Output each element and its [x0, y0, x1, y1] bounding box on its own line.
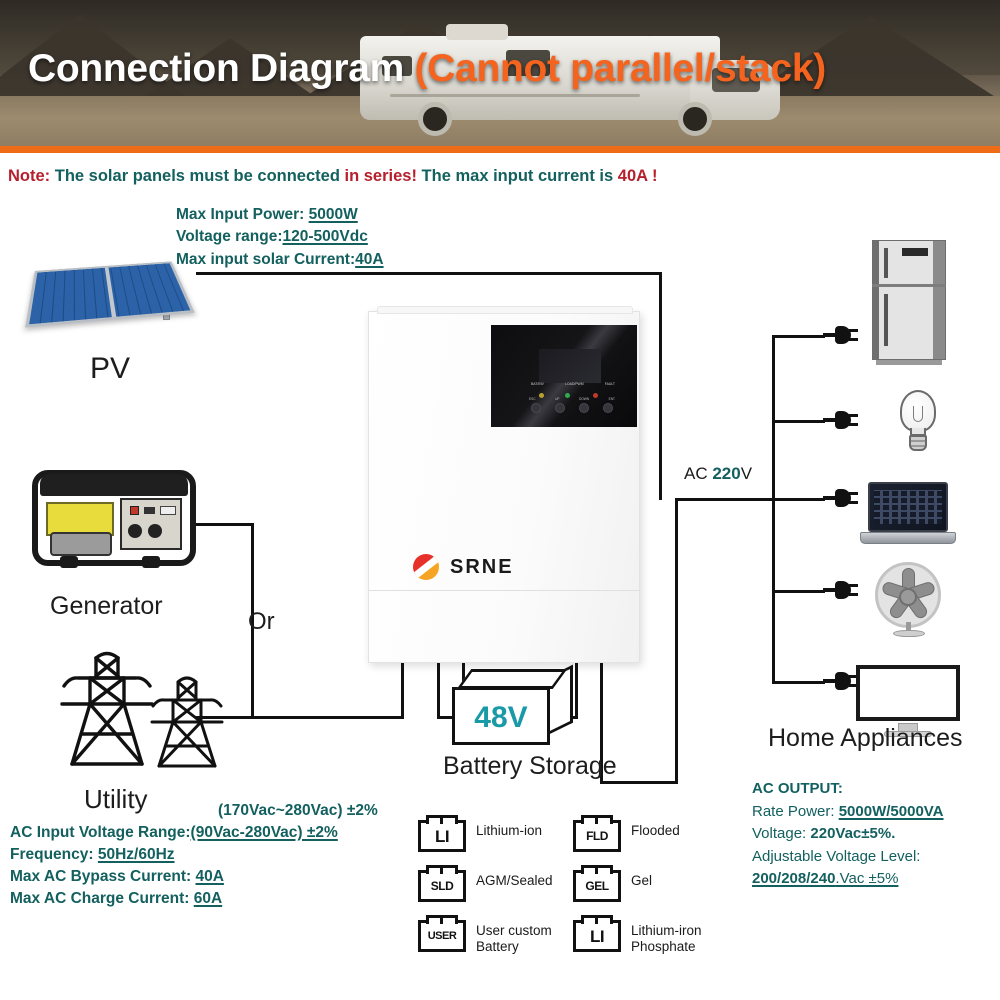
plug-icon-fridge: [823, 325, 857, 345]
note-emphasis-current: 40A: [618, 167, 648, 185]
battery-icon-lifepo4: LI: [573, 920, 621, 952]
srne-logo-text: SRNE: [450, 556, 514, 579]
wire-to-bulb: [772, 420, 825, 423]
note-part2: The max input current is: [417, 167, 618, 185]
orange-divider: [0, 146, 1000, 153]
srne-logo: SRNE: [413, 554, 514, 580]
plug-icon-bulb: [823, 410, 857, 430]
legend-item-lithium-ion: LI Lithium-ion: [418, 820, 573, 852]
legend-row: SLD AGM/Sealed GEL Gel: [418, 870, 728, 906]
battery-illustration: 48V: [452, 665, 574, 751]
ac-220v-label: AC 220V: [684, 464, 752, 484]
ac-input-voltage-range-row: AC Input Voltage Range:(90Vac-280Vac) ±2…: [10, 822, 420, 844]
ac-output-heading: AC OUTPUT:: [752, 778, 1000, 801]
wire-to-laptop: [772, 498, 825, 501]
pv-label: PV: [90, 352, 130, 386]
wire-ac-in-riser: [401, 660, 404, 719]
ac-output-voltage-row: Voltage: 220Vac±5%.: [752, 823, 1000, 846]
ac-input-frequency-row: Frequency: 50Hz/60Hz: [10, 844, 420, 866]
note-line: Note: The solar panels must be connected…: [8, 167, 992, 186]
inverter-unit: BAT/INV LOAD/PWM FAULT ESC UP DOWN ENT: [368, 311, 640, 663]
ac-output-specs: AC OUTPUT: Rate Power: 5000W/5000VA Volt…: [752, 778, 1000, 891]
ac-output-rate-power-value: 5000W/5000VA: [839, 803, 944, 820]
ac-output-adjustable-value: 200/208/240: [752, 870, 835, 887]
connection-diagram-page: Connection Diagram (Cannot parallel/stac…: [0, 0, 1000, 1000]
battery-voltage-label: 48V: [452, 701, 550, 735]
battery-icon-gel: GEL: [573, 870, 621, 902]
wire-to-fridge: [772, 335, 825, 338]
ac-input-voltage-range-top-row: (170Vac~280Vac) ±2%: [10, 800, 420, 822]
inverter-esc-button[interactable]: [531, 403, 541, 413]
legend-label-user-custom: User custom Battery: [476, 920, 573, 954]
wire-ac-in-to-inverter: [251, 716, 404, 719]
battery-type-legend: LI Lithium-ion FLD Flooded SLD AGM/Seale…: [418, 820, 728, 970]
ac-input-charge-row: Max AC Charge Current: 60A: [10, 888, 420, 910]
legend-label-agm-sealed: AGM/Sealed: [476, 870, 553, 889]
pv-spec-max-power: Max Input Power: 5000W: [176, 206, 358, 224]
page-title: Connection Diagram (Cannot parallel/stac…: [28, 47, 826, 91]
ac-input-frequency-value: 50Hz/60Hz: [98, 846, 175, 863]
home-appliances-label: Home Appliances: [768, 724, 963, 753]
button-label-up: UP: [555, 397, 559, 401]
note-part1: The solar panels must be connected: [50, 167, 344, 185]
wire-battery-left: [437, 660, 440, 718]
ac-output-voltage-label: Voltage:: [752, 825, 810, 842]
inverter-up-button[interactable]: [555, 403, 565, 413]
wire-to-monitor: [772, 681, 825, 684]
ac-input-voltage-main: (90Vac-280Vac) ±2%: [191, 824, 338, 841]
battery-icon-sld: SLD: [418, 870, 466, 902]
ac-input-bypass-row: Max AC Bypass Current: 40A: [10, 866, 420, 888]
plug-icon-fan: [823, 580, 857, 600]
wire-battery-right: [575, 660, 578, 718]
light-bulb-icon: [895, 390, 941, 452]
ac-input-charge-value: 60A: [194, 890, 222, 907]
wire-ac-out-right: [600, 781, 678, 784]
legend-item-flooded: FLD Flooded: [573, 820, 728, 852]
legend-item-agm-sealed: SLD AGM/Sealed: [418, 870, 573, 902]
note-emphasis-series: in series!: [345, 167, 417, 185]
ac-input-voltage-top: (170Vac~280Vac) ±2%: [218, 800, 378, 822]
inverter-button-labels: ESC UP DOWN ENT: [529, 397, 615, 401]
wire-pv-top: [196, 272, 662, 275]
inverter-buttons: [531, 403, 613, 413]
ac-input-bypass-label: Max AC Bypass Current:: [10, 868, 195, 885]
inverter-lcd-screen: [539, 349, 601, 383]
ac-output-rate-power-label: Rate Power:: [752, 803, 839, 820]
led-label-load: LOAD/PWM: [565, 382, 583, 386]
button-label-ent: ENT: [609, 397, 615, 401]
plug-icon-monitor: [823, 671, 857, 691]
ac-output-voltage-value: 220Vac±5%.: [810, 825, 895, 842]
wire-pv-down: [659, 272, 662, 500]
legend-label-gel: Gel: [631, 870, 652, 889]
wire-to-fan: [772, 590, 825, 593]
wire-generator: [196, 523, 254, 526]
laptop-icon: [860, 482, 956, 548]
generator-label: Generator: [50, 592, 163, 621]
generator-illustration: [32, 470, 196, 566]
wire-ac-bus-h: [675, 498, 785, 501]
srne-logo-mark-icon: [413, 554, 439, 580]
ac-input-specs: (170Vac~280Vac) ±2% AC Input Voltage Ran…: [10, 800, 420, 910]
ac-input-voltage-label: AC Input Voltage Range:: [10, 824, 191, 841]
pv-spec-voltage-range: Voltage range:120-500Vdc: [176, 228, 368, 246]
inverter-led-labels: BAT/INV LOAD/PWM FAULT: [531, 382, 615, 386]
inverter-down-button[interactable]: [579, 403, 589, 413]
battery-icon-user: USER: [418, 920, 466, 952]
note-prefix: Note:: [8, 167, 50, 185]
electric-fan-icon: [873, 562, 945, 636]
legend-row: USER User custom Battery LI Lithium-iron…: [418, 920, 728, 956]
legend-item-lifepo4: LI Lithium-iron Phosphate: [573, 920, 728, 954]
led-label-bat: BAT/INV: [531, 382, 544, 386]
inverter-ent-button[interactable]: [603, 403, 613, 413]
legend-label-flooded: Flooded: [631, 820, 680, 839]
note-suffix: !: [647, 167, 657, 185]
inverter-seam: [369, 590, 641, 591]
or-label: Or: [248, 608, 275, 636]
ac-input-frequency-label: Frequency:: [10, 846, 98, 863]
page-title-note: (Cannot parallel/stack): [415, 47, 826, 90]
inverter-top-cap: [377, 306, 633, 314]
legend-label-lithium-ion: Lithium-ion: [476, 820, 542, 839]
battery-icon-li: LI: [418, 820, 466, 852]
legend-label-lifepo4: Lithium-iron Phosphate: [631, 920, 728, 954]
plug-icon-laptop: [823, 488, 857, 508]
pv-spec-voltage-range-value: 120-500Vdc: [283, 228, 368, 245]
ac-input-charge-label: Max AC Charge Current:: [10, 890, 194, 907]
ac-input-bypass-value: 40A: [195, 868, 223, 885]
wire-ac-out-riser: [675, 498, 678, 784]
wire-appliance-bus: [772, 335, 775, 683]
ac-output-rate-power-row: Rate Power: 5000W/5000VA: [752, 801, 1000, 824]
pv-spec-max-current-value: 40A: [355, 251, 383, 268]
battery-storage-label: Battery Storage: [443, 752, 617, 781]
legend-item-user-custom: USER User custom Battery: [418, 920, 573, 954]
battery-icon-fld: FLD: [573, 820, 621, 852]
led-label-fault: FAULT: [605, 382, 615, 386]
ac-output-adjustable-row: 200/208/240.Vac ±5%: [752, 868, 1000, 891]
ac-output-adjustable-suffix: .Vac ±5%: [835, 870, 898, 887]
inverter-display-panel: BAT/INV LOAD/PWM FAULT ESC UP DOWN ENT: [491, 325, 637, 427]
utility-pylon-small-icon: [144, 672, 230, 768]
legend-item-gel: GEL Gel: [573, 870, 728, 902]
ac-output-adjustable-label: Adjustable Voltage Level:: [752, 846, 1000, 869]
pv-spec-max-power-value: 5000W: [309, 206, 358, 223]
button-label-down: DOWN: [579, 397, 589, 401]
button-label-esc: ESC: [529, 397, 536, 401]
solar-panel-illustration: [18, 248, 198, 348]
refrigerator-icon: [872, 240, 946, 360]
legend-row: LI Lithium-ion FLD Flooded: [418, 820, 728, 856]
pv-spec-max-current: Max input solar Current:40A: [176, 251, 384, 269]
page-title-main: Connection Diagram: [28, 47, 415, 90]
